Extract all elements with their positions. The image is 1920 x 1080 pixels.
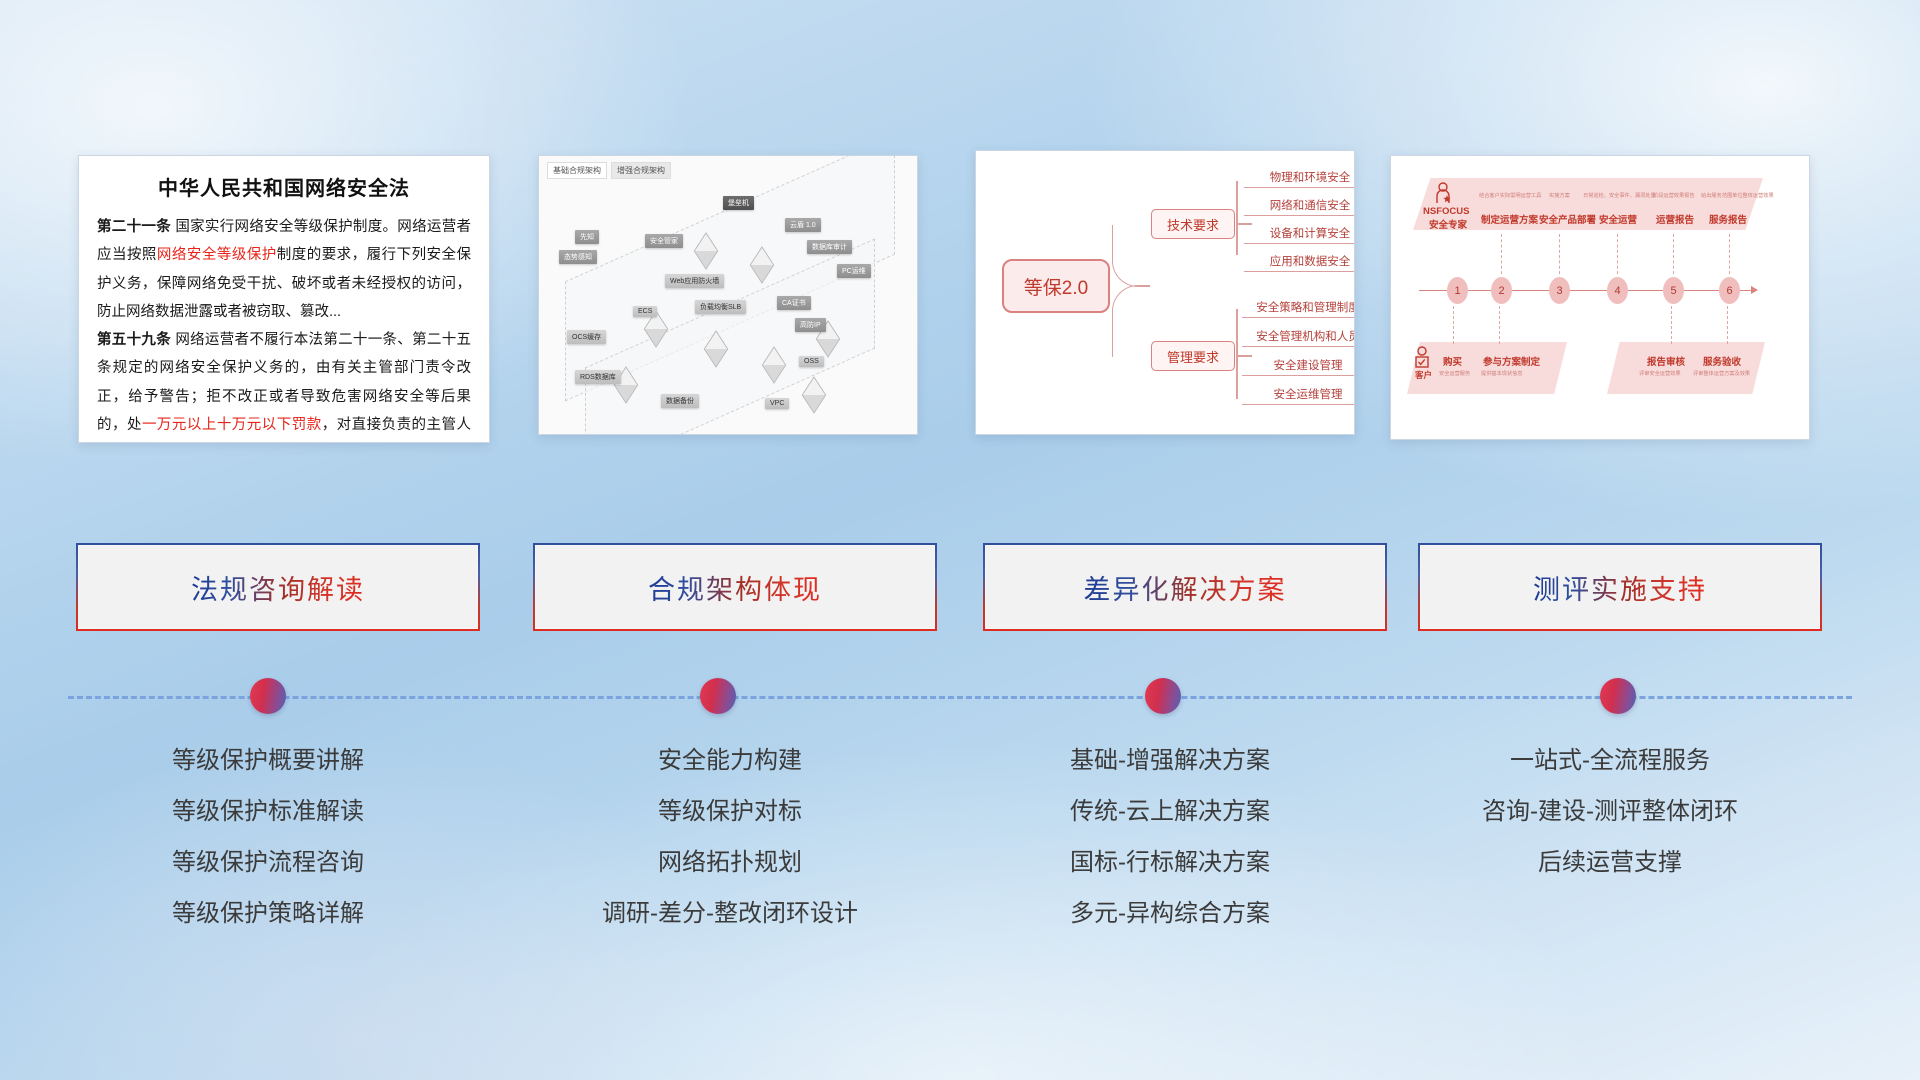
node-ecs: ECS [633,306,657,317]
list-item: 等级保护对标 [520,786,940,837]
list-item: 多元-异构综合方案 [960,888,1380,939]
law-article-59: 第五十九条 网络运营者不履行本法第二十一条、第二十五条规定的网络安全保护义务的，… [97,326,471,443]
nsfocus-tick-bottom-6 [1727,306,1728,344]
nsfocus-top-sub-4: 阶段运营效果报告 [1653,192,1695,199]
node-anti-ddos: 高防IP [795,318,826,332]
mindmap-leaf-app-data: 应用和数据安全 [1244,253,1355,272]
nsfocus-axis-arrow [1751,286,1758,294]
category-label-architecture: 合规架构体现 [648,568,822,607]
node-vpc: VPC [765,398,789,409]
mindmap-leaf-device-compute: 设备和计算安全 [1244,225,1355,244]
nsfocus-customer-band-right [1607,342,1765,394]
nsfocus-card: NSFOCUS 安全专家 结合客户实际需明运营工具 实施方案 日常巡检、安全事件… [1390,155,1810,440]
node-yundun: 云盾 1.0 [785,218,821,232]
nsfocus-top-step-2: 安全产品部署 [1539,212,1596,226]
detail-list-row: 等级保护概要讲解 等级保护标准解读 等级保护流程咨询 等级保护策略详解 安全能力… [0,735,1920,1035]
mindmap-leaf-policy-system: 安全策略和管理制度 [1242,299,1355,318]
law-card: 中华人民共和国网络安全法 第二十一条 国家实行网络安全等级保护制度。网络运营者应… [78,155,490,443]
mindmap-leaf-ops-mgmt: 安全运维管理 [1242,386,1355,405]
architecture-card: 基础合规架构 增强合规架构 堡垒机 安全管家 先知 态势感知 云盾 1.0 [538,155,918,435]
list-item: 安全能力构建 [520,735,940,786]
mindmap-connector-top [1112,225,1150,287]
node-situational-awareness: 态势感知 [559,250,597,264]
node-data-backup: 数据备份 [661,394,699,408]
mindmap-connector-bottom [1112,285,1150,357]
detail-list-regulation: 等级保护概要讲解 等级保护标准解读 等级保护流程咨询 等级保护策略详解 [58,735,478,939]
list-item: 后续运营支撑 [1400,837,1820,888]
detail-list-solution: 基础-增强解决方案 传统-云上解决方案 国标-行标解决方案 多元-异构综合方案 [960,735,1380,939]
category-label-solution: 差异化解决方案 [1084,568,1287,607]
node-ocs-cache: OCS缓存 [567,330,606,344]
list-item: 一站式-全流程服务 [1400,735,1820,786]
mindmap-leaf-org-personnel: 安全管理机构和人员 [1242,328,1355,347]
nsfocus-customer-band-left [1407,342,1567,394]
category-label-row: 法规咨询解读 合规架构体现 差异化解决方案 测评实施支持 [0,545,1920,645]
mindmap-branch-management: 管理要求 [1151,341,1235,371]
mindmap-branch-technical: 技术要求 [1151,209,1235,239]
mindmap: 等保2.0 技术要求 物理和环境安全 网络和通信安全 设备和计算安全 应用和数据… [976,151,1354,434]
nsfocus-step-dot-6: 6 [1719,277,1740,304]
law-article-59-label: 第五十九条 [97,332,171,348]
mindmap-root: 等保2.0 [1002,259,1110,313]
nsfocus-bottom-step-4: 服务验收 [1703,354,1741,368]
nsfocus-step-dot-1: 1 [1447,277,1468,304]
nsfocus-step-dot-3: 3 [1549,277,1570,304]
customer-icon [1413,346,1431,368]
node-waf: Web应用防火墙 [665,274,724,288]
nsfocus-customer-label: 客户 [1415,369,1432,381]
timeline-connector [0,660,1920,720]
timeline-dashed-line [68,696,1852,699]
law-title: 中华人民共和国网络安全法 [97,172,471,201]
mindmap-leaf-build-mgmt: 安全建设管理 [1242,357,1355,376]
category-box-regulation[interactable]: 法规咨询解读 [78,545,478,629]
architecture-canvas: 堡垒机 安全管家 先知 态势感知 云盾 1.0 数据库审计 PC运维 Web应用… [545,178,911,428]
mindmap-spine-management [1236,309,1238,399]
top-card-row: 中华人民共和国网络安全法 第二十一条 国家实行网络安全等级保护制度。网络运营者应… [0,0,1920,460]
nsfocus-top-sub-2: 实施方案 [1549,192,1570,199]
nsfocus-top-step-5: 服务报告 [1709,212,1747,226]
category-box-architecture[interactable]: 合规架构体现 [535,545,935,629]
list-item: 基础-增强解决方案 [960,735,1380,786]
node-pc-ops: PC运维 [837,264,871,278]
category-box-assessment[interactable]: 测评实施支持 [1420,545,1820,629]
nsfocus-brand-line-1: NSFOCUS [1423,206,1469,217]
timeline-dot-3 [1145,678,1181,714]
nsfocus-tick-bottom-2 [1499,306,1500,344]
nsfocus-tick-5 [1673,234,1674,274]
node-security-butler: 安全管家 [645,234,683,248]
nsfocus-brand-line-2: 安全专家 [1429,217,1467,231]
nsfocus-top-sub-3: 日常巡检、安全事件、漏洞处置 [1583,192,1656,199]
mindmap-spine-technical [1236,181,1238,255]
list-item: 等级保护策略详解 [58,888,478,939]
list-item: 等级保护概要讲解 [58,735,478,786]
law-article-21-label: 第二十一条 [97,219,171,235]
nsfocus-bottom-sub-2: 提供基本现状信息 [1481,370,1523,377]
tab-enhanced-architecture[interactable]: 增强合规架构 [611,162,671,179]
nsfocus-timeline: NSFOCUS 安全专家 结合客户实际需明运营工具 实施方案 日常巡检、安全事件… [1391,156,1809,439]
node-oss: OSS [799,356,824,367]
nsfocus-bottom-sub-1: 安全运营服务 [1439,370,1470,377]
timeline-dot-2 [700,678,736,714]
category-box-solution[interactable]: 差异化解决方案 [985,545,1385,629]
list-item: 咨询-建设-测评整体闭环 [1400,786,1820,837]
node-db-audit: 数据库审计 [807,240,852,254]
mindmap-leaf-network-comm: 网络和通信安全 [1244,197,1355,216]
detail-list-architecture: 安全能力构建 等级保护对标 网络拓扑规划 调研-差分-整改闭环设计 [520,735,940,939]
nsfocus-axis [1419,290,1753,291]
list-item: 网络拓扑规划 [520,837,940,888]
list-item: 国标-行标解决方案 [960,837,1380,888]
nsfocus-bottom-sub-4: 评审整体运营方案及效果 [1693,370,1750,377]
timeline-dot-1 [250,678,286,714]
security-expert-icon [1433,182,1453,204]
nsfocus-step-dot-2: 2 [1491,277,1512,304]
law-content: 中华人民共和国网络安全法 第二十一条 国家实行网络安全等级保护制度。网络运营者应… [79,156,489,443]
node-rds: RDS数据库 [575,370,621,384]
law-article-21: 第二十一条 国家实行网络安全等级保护制度。网络运营者应当按照网络安全等级保护制度… [97,213,471,326]
list-item: 等级保护流程咨询 [58,837,478,888]
timeline-dot-4 [1600,678,1636,714]
nsfocus-bottom-step-1: 购买 [1443,354,1462,368]
node-slb: 负载均衡SLB [695,300,746,314]
nsfocus-bottom-step-3: 报告审核 [1647,354,1685,368]
nsfocus-tick-3 [1559,234,1560,274]
nsfocus-step-dot-5: 5 [1663,277,1684,304]
tab-basic-architecture[interactable]: 基础合规架构 [547,162,607,179]
node-xianzhi: 先知 [575,230,599,244]
server-cube-8 [802,376,826,414]
mindmap-leaf-physical-env: 物理和环境安全 [1244,169,1355,188]
nsfocus-top-step-4: 运营报告 [1656,212,1694,226]
nsfocus-top-step-3: 安全运营 [1599,212,1637,226]
list-item: 等级保护标准解读 [58,786,478,837]
architecture-diagram: 基础合规架构 增强合规架构 堡垒机 安全管家 先知 态势感知 云盾 1.0 [539,156,917,434]
nsfocus-step-dot-4: 4 [1607,277,1628,304]
node-bastion: 堡垒机 [723,196,754,210]
nsfocus-top-step-1: 制定运营方案 [1481,212,1538,226]
nsfocus-top-sub-1: 结合客户实际需明运营工具 [1479,192,1541,199]
nsfocus-tick-6 [1729,234,1730,274]
nsfocus-tick-2 [1501,234,1502,274]
category-label-regulation: 法规咨询解读 [191,568,365,607]
nsfocus-top-sub-5: 给出服务范围单位整体运营效果 [1701,192,1774,199]
nsfocus-tick-bottom-5 [1671,306,1672,344]
list-item: 调研-差分-整改闭环设计 [520,888,940,939]
law-article-21-highlight: 网络安全等级保护 [157,247,277,263]
law-article-59-highlight-1: 一万元以上十万元以下罚款 [142,417,322,433]
list-item: 传统-云上解决方案 [960,786,1380,837]
nsfocus-bottom-sub-3: 评审安全运营效果 [1639,370,1681,377]
mindmap-card: 等保2.0 技术要求 物理和环境安全 网络和通信安全 设备和计算安全 应用和数据… [975,150,1355,435]
node-ca-cert: CA证书 [777,296,811,310]
architecture-tabs: 基础合规架构 增强合规架构 [547,162,671,179]
category-label-assessment: 测评实施支持 [1533,568,1707,607]
nsfocus-tick-bottom-1 [1453,306,1454,344]
nsfocus-tick-4 [1617,234,1618,274]
detail-list-assessment: 一站式-全流程服务 咨询-建设-测评整体闭环 后续运营支撑 [1400,735,1820,888]
nsfocus-bottom-step-2: 参与方案制定 [1483,354,1540,368]
